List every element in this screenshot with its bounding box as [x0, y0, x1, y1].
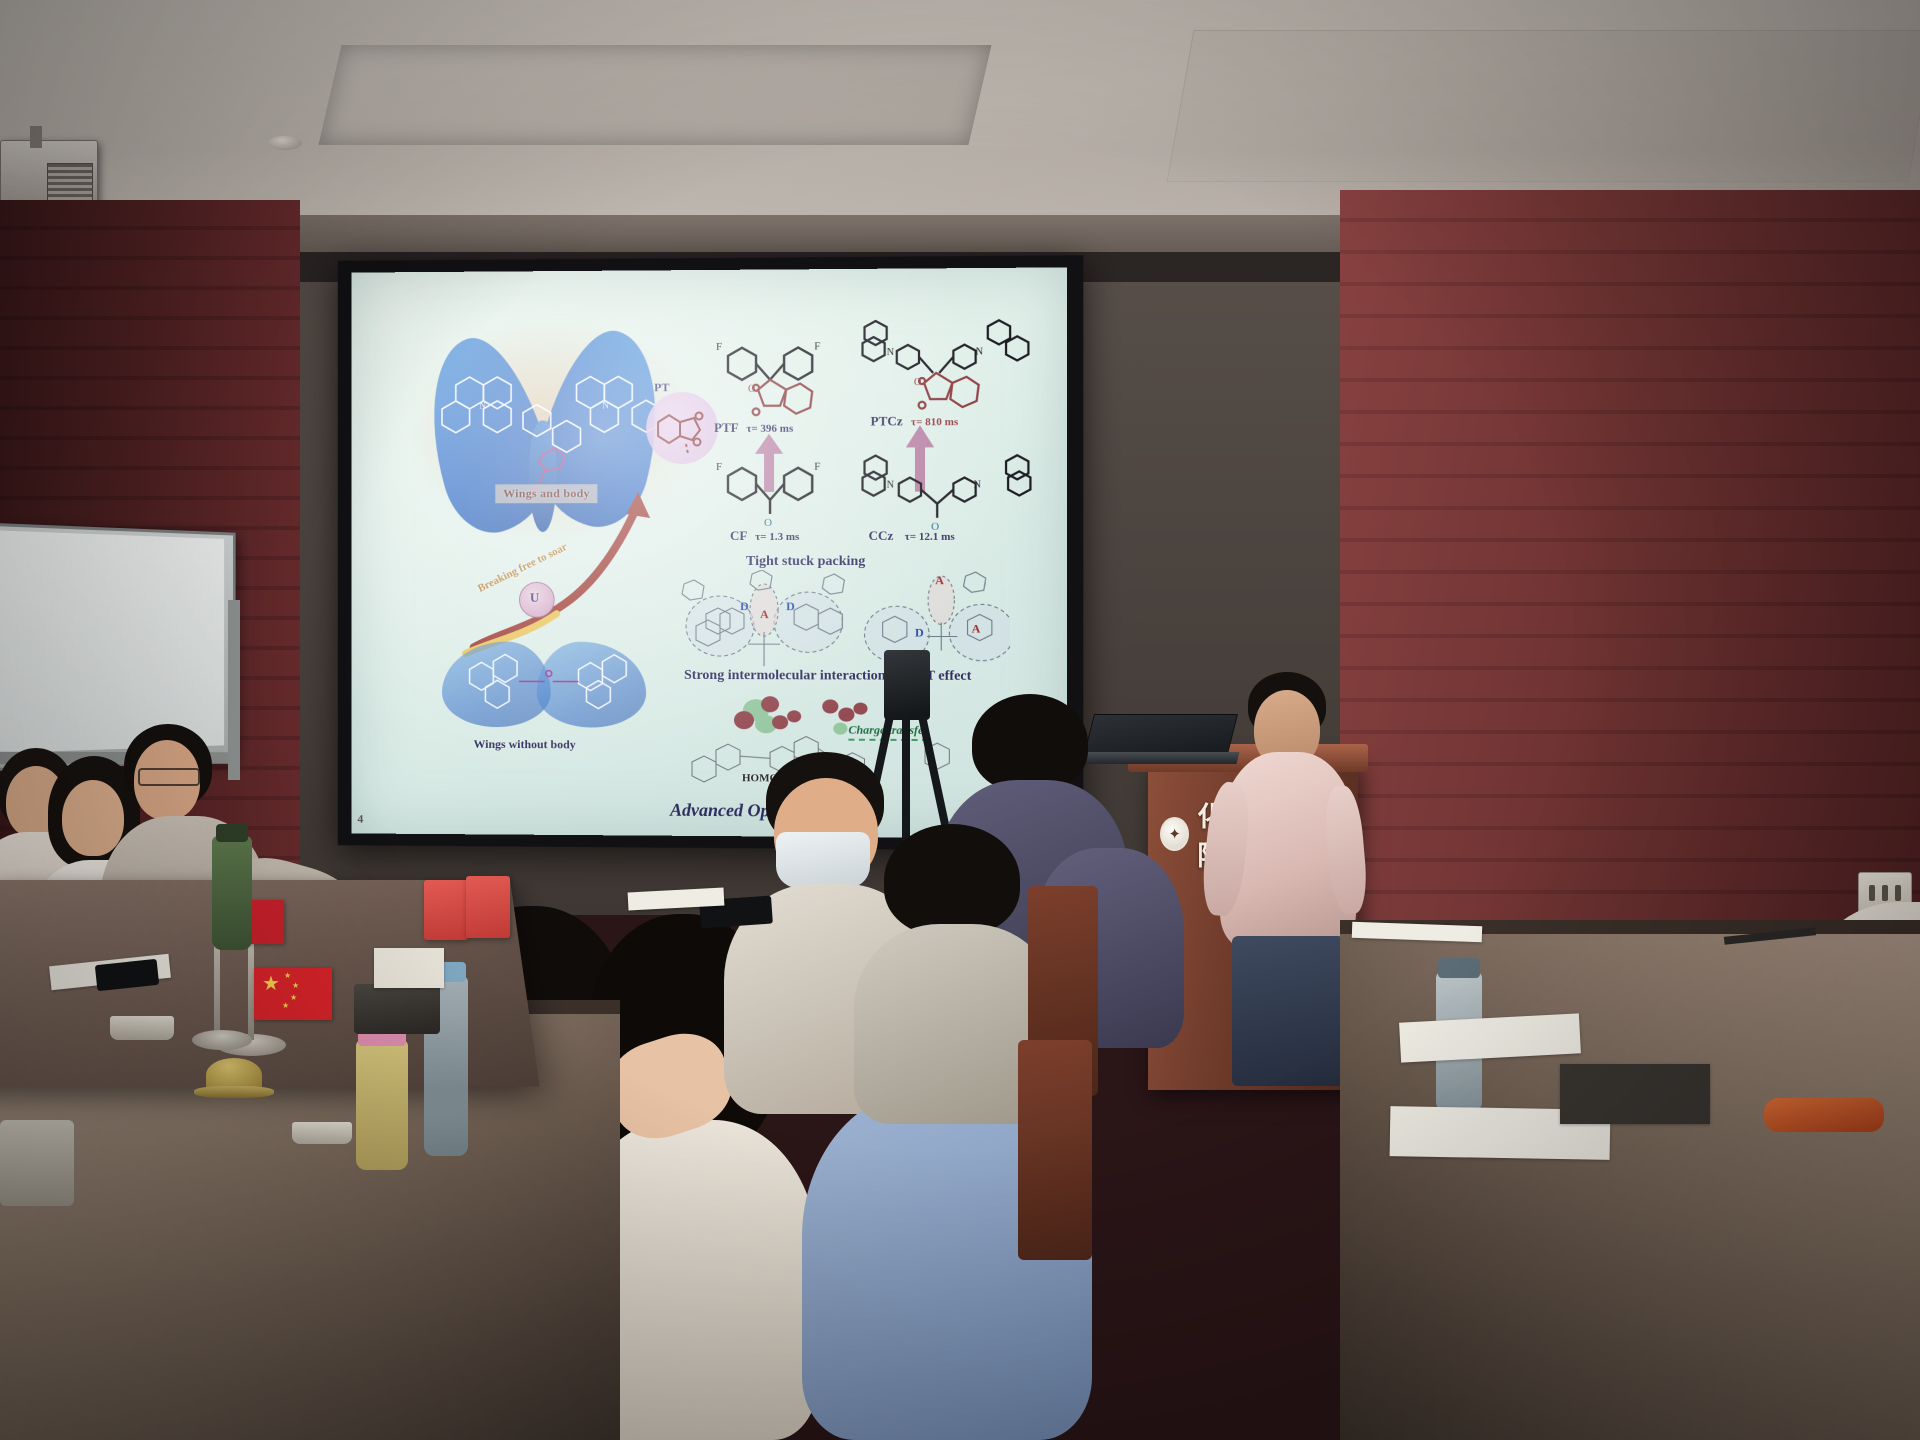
svg-text:D: D	[915, 625, 924, 639]
svg-text:A: A	[935, 573, 944, 587]
ccz-name: CCz	[869, 528, 894, 543]
right-table-sheen	[1340, 920, 1920, 1440]
svg-text:F: F	[716, 341, 722, 353]
flag-stand-2	[192, 1030, 252, 1050]
svg-text:A: A	[972, 621, 981, 635]
ceiling-light-panel	[318, 45, 991, 145]
socket-hole-right	[1895, 885, 1901, 901]
whiteboard	[0, 523, 236, 771]
flag-star-small-1: ★	[284, 972, 291, 980]
red-poster-2	[466, 876, 510, 938]
flag-star-small-2: ★	[292, 982, 299, 990]
ptf-name: PTF	[714, 420, 738, 435]
flag-star-large: ★	[262, 974, 280, 994]
university-emblem-icon: ✦	[1160, 817, 1189, 851]
p9-hair	[884, 824, 1020, 936]
smoke-detector-icon	[268, 136, 302, 150]
seminar-room-photo: N N Wings and body	[0, 0, 1920, 1440]
socket-hole-left	[1869, 885, 1875, 901]
svg-text:F: F	[814, 461, 820, 473]
projection-screen: N N Wings and body	[352, 267, 1068, 838]
red-poster-1	[424, 880, 468, 940]
caption-tight-stuck-packing: Tight stuck packing	[746, 554, 865, 570]
pt-badge-label: PT	[654, 380, 669, 395]
unit-badge-label: U	[530, 590, 539, 606]
chair-2	[1018, 1040, 1092, 1260]
bottle-cap-green[interactable]	[216, 824, 248, 842]
presenter-legs	[1232, 936, 1344, 1086]
caption-wings-without-body: Wings without body	[474, 737, 576, 752]
flag-star-small-3: ★	[290, 994, 297, 1002]
desk-bell-base	[194, 1086, 274, 1098]
molecule-cf-structure: F F O	[714, 456, 854, 532]
svg-text:D: D	[786, 599, 795, 613]
p8-hair	[972, 694, 1088, 792]
china-flag: ★ ★ ★ ★ ★	[254, 968, 332, 1020]
svg-text:N: N	[887, 347, 894, 358]
molecule-ptf-structure: F F O	[714, 327, 854, 428]
whiteboard-stand	[228, 600, 240, 780]
whiteboard-surface	[0, 530, 224, 753]
ptcz-name: PTCz	[871, 413, 903, 428]
camera-tripod-head	[884, 650, 930, 720]
molecule-cf-label: CF τ= 1.3 ms	[730, 528, 799, 544]
presenter-laptop-base[interactable]	[1081, 752, 1240, 764]
svg-text:A: A	[760, 607, 769, 621]
molecule-ccz-label: CCz τ= 12.1 ms	[869, 528, 955, 544]
teacup-mid	[110, 1016, 174, 1040]
svg-text:O: O	[914, 377, 921, 388]
svg-text:N: N	[602, 400, 609, 410]
water-bottle-green[interactable]	[212, 836, 252, 950]
pt-molecule-icon	[648, 398, 718, 464]
cf-name: CF	[730, 528, 747, 543]
p3-glasses-icon	[138, 768, 200, 786]
flag-star-small-4: ★	[282, 1002, 289, 1010]
projector-mount	[30, 126, 42, 148]
teacup-left	[292, 1122, 352, 1144]
svg-text:O: O	[748, 384, 755, 395]
socket-hole-mid	[1882, 885, 1888, 901]
p6-face-mask	[776, 832, 870, 888]
svg-text:F: F	[814, 340, 820, 352]
folder-center	[354, 984, 440, 1034]
bottle-cap-right[interactable]	[1438, 958, 1480, 978]
tissue-box	[374, 948, 444, 988]
eyeglasses-right	[1764, 1098, 1884, 1132]
breaking-free-arrow	[458, 478, 696, 658]
mug-left	[0, 1120, 74, 1206]
svg-text:D: D	[740, 599, 749, 613]
molecule-ptcz-structure: N N O	[856, 308, 1038, 428]
svg-text:F: F	[716, 461, 722, 473]
water-bottle-pink[interactable]	[356, 1040, 408, 1170]
packing-diagram: D A D A D A	[668, 570, 1010, 681]
p2-head	[62, 780, 124, 856]
notepad-right	[1560, 1064, 1710, 1124]
lower-molecule-overlay	[450, 651, 648, 727]
slide-number: 4	[357, 812, 363, 827]
molecule-ccz-structure: N N O	[856, 447, 1038, 534]
ccz-lifetime: τ= 12.1 ms	[905, 531, 955, 543]
svg-text:N: N	[479, 401, 486, 411]
cf-lifetime: τ= 1.3 ms	[755, 531, 799, 543]
svg-text:N: N	[887, 480, 894, 491]
